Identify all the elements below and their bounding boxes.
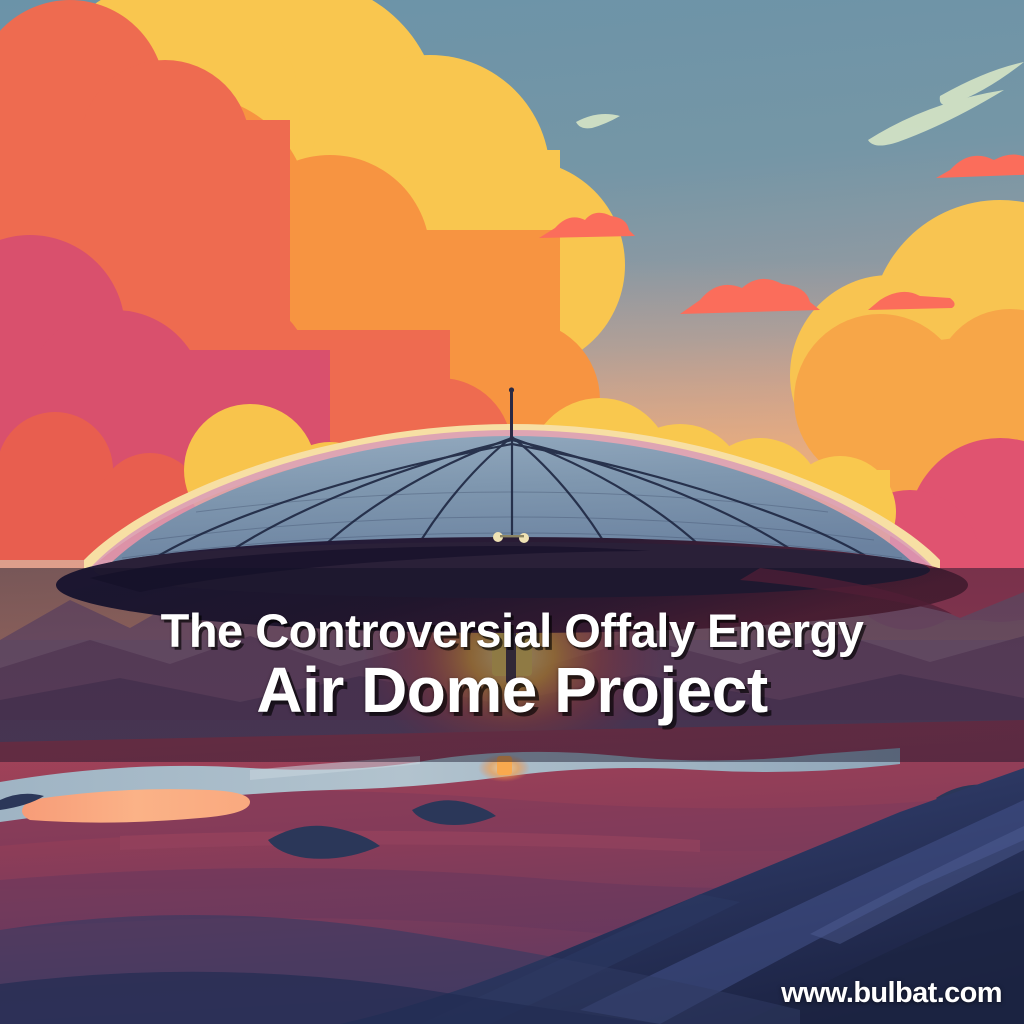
dome-antenna-tip [509, 387, 514, 392]
title-block: The Controversial Offaly Energy Air Dome… [0, 568, 1024, 762]
illustration-canvas: The Controversial Offaly Energy Air Dome… [0, 0, 1024, 1024]
scene-illustration [0, 0, 1024, 1024]
title-line-1: The Controversial Offaly Energy [161, 607, 864, 655]
dome-antenna [510, 390, 513, 440]
site-watermark: www.bulbat.com [781, 977, 1002, 1010]
title-line-2: Air Dome Project [256, 657, 767, 724]
